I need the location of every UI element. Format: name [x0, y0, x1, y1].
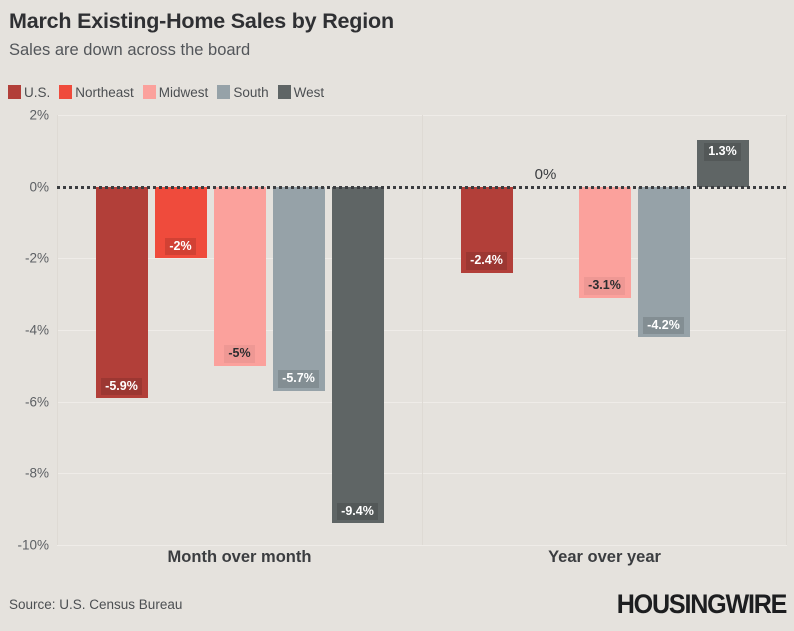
bar-value-label: 0% — [531, 165, 561, 185]
axis-divider — [786, 115, 787, 545]
zero-baseline — [57, 186, 787, 189]
bar-value-label: -9.4% — [337, 503, 378, 521]
legend-swatch-icon — [217, 85, 230, 99]
legend-item-label: Midwest — [159, 85, 209, 100]
legend-item-label: West — [294, 85, 325, 100]
legend-swatch-icon — [143, 85, 156, 99]
legend-item-midwest[interactable]: Midwest — [143, 85, 209, 100]
axis-divider — [422, 115, 423, 545]
bar-value-label: 1.3% — [704, 143, 741, 161]
bar-west-month[interactable]: -9.4% — [332, 187, 384, 524]
y-axis-tick-label: -10% — [17, 538, 49, 553]
x-axis-group-label: Year over year — [548, 548, 661, 567]
chart-subtitle: Sales are down across the board — [9, 41, 250, 60]
bar-midwest-month[interactable]: -5% — [214, 187, 266, 366]
bar-value-label: -3.1% — [584, 277, 625, 295]
housingwire-logo: HOUSINGWIRE — [617, 589, 786, 620]
bar-west-year[interactable]: 1.3% — [697, 140, 749, 187]
source-note: Source: U.S. Census Bureau — [9, 597, 182, 612]
bar-us-year[interactable]: -2.4% — [461, 187, 513, 273]
bar-south-month[interactable]: -5.7% — [273, 187, 325, 391]
y-axis-tick-label: -8% — [25, 466, 49, 481]
y-axis-tick-label: -2% — [25, 251, 49, 266]
bar-value-label: -4.2% — [643, 317, 684, 335]
chart-root: March Existing-Home Sales by Region Sale… — [0, 0, 794, 631]
bar-south-year[interactable]: -4.2% — [638, 187, 690, 338]
axis-divider — [57, 115, 58, 545]
legend-item-south[interactable]: South — [217, 85, 268, 100]
legend-item-northeast[interactable]: Northeast — [59, 85, 134, 100]
legend-swatch-icon — [59, 85, 72, 99]
bar-northeast-month[interactable]: -2% — [155, 187, 207, 259]
bar-value-label: -2.4% — [466, 252, 507, 270]
y-axis-tick-label: -4% — [25, 323, 49, 338]
plot-area: 2%0%-2%-4%-6%-8%-10%-5.9%-2%-5%-5.7%-9.4… — [57, 115, 787, 545]
legend-item-label: U.S. — [24, 85, 50, 100]
legend-swatch-icon — [278, 85, 291, 99]
bar-value-label: -5.9% — [101, 378, 142, 396]
legend-item-label: South — [233, 85, 268, 100]
chart-legend: U.S.NortheastMidwestSouthWest — [8, 83, 333, 101]
bar-value-label: -5% — [224, 345, 254, 363]
gridline — [57, 545, 787, 546]
chart-title: March Existing-Home Sales by Region — [9, 9, 394, 34]
bar-value-label: -5.7% — [278, 370, 319, 388]
bar-us-month[interactable]: -5.9% — [96, 187, 148, 398]
x-axis-group-label: Month over month — [168, 548, 312, 567]
legend-item-label: Northeast — [75, 85, 134, 100]
y-axis-tick-label: -6% — [25, 394, 49, 409]
bar-value-label: -2% — [165, 238, 195, 256]
legend-item-us[interactable]: U.S. — [8, 85, 50, 100]
legend-item-west[interactable]: West — [278, 85, 325, 100]
bar-midwest-year[interactable]: -3.1% — [579, 187, 631, 298]
legend-swatch-icon — [8, 85, 21, 99]
y-axis-tick-label: 0% — [29, 179, 49, 194]
y-axis-tick-label: 2% — [29, 108, 49, 123]
